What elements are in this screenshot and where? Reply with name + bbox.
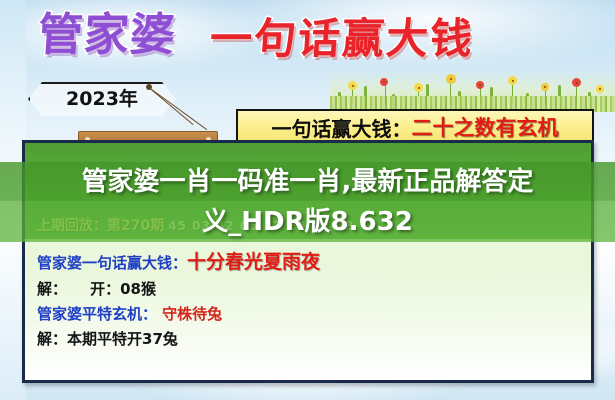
header-title-red: 一句话赢大钱 xyxy=(209,18,476,60)
panel-row: 管家婆平特玄机： 守株待兔 xyxy=(25,301,591,326)
header-artwork: 管家婆 一句话赢大钱 xyxy=(0,0,615,120)
row-value: 守株待兔 xyxy=(162,305,222,323)
overlay-caption-line1: 管家婆一肖一码准一肖,最新正品解答定 xyxy=(82,162,534,202)
panel-rows: 管家婆一句话赢大钱：十分春光夏雨夜 解： 开：08猴 管家婆平特玄机： 守株待兔… xyxy=(25,245,591,351)
row-value: 开：08猴 xyxy=(90,280,156,298)
screenshot-root: 管家婆 一句话赢大钱 xyxy=(0,0,615,400)
row-label: 管家婆平特玄机： xyxy=(37,305,157,323)
grass-decoration xyxy=(330,70,615,112)
yellow-banner-label: 一句话赢大钱： xyxy=(272,113,412,142)
flower-icon xyxy=(414,83,423,92)
flower-icon xyxy=(476,81,484,89)
flower-icon xyxy=(508,76,517,85)
flower-icon xyxy=(446,74,456,84)
flower-icon xyxy=(572,78,581,87)
row-value: 本期平特开37兔 xyxy=(67,330,178,348)
flower-icon xyxy=(541,83,549,91)
flower-icon xyxy=(596,85,604,93)
panel-row: 解：本期平特开37兔 xyxy=(25,326,591,351)
flower-icon xyxy=(348,81,357,90)
header-title-purple: 管家婆 xyxy=(36,12,177,57)
flower-icon xyxy=(380,78,388,86)
row-label: 解： xyxy=(37,280,67,298)
panel-row: 解： 开：08猴 xyxy=(25,276,591,301)
yellow-banner-value: 二十之数有玄机 xyxy=(412,112,559,142)
row-label: 解： xyxy=(37,330,67,348)
row-value: 十分春光夏雨夜 xyxy=(187,251,320,273)
overlay-caption: 管家婆一肖一码准一肖,最新正品解答定 义_HDR版8.632 xyxy=(0,162,615,242)
panel-row: 管家婆一句话赢大钱：十分春光夏雨夜 xyxy=(25,245,591,276)
overlay-caption-line2: 义_HDR版8.632 xyxy=(202,202,413,242)
row-label: 管家婆一句话赢大钱： xyxy=(37,254,187,272)
